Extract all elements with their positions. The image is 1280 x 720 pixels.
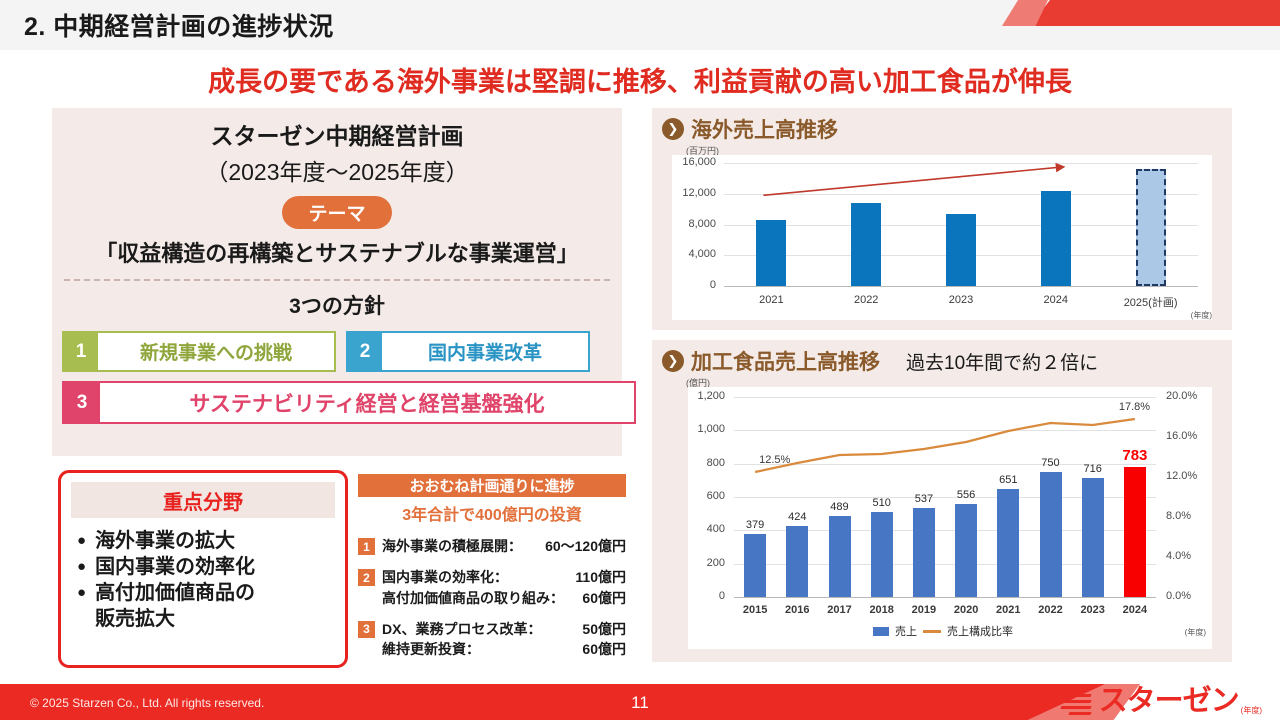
focus-item-label: 高付加価値商品の <box>95 581 255 605</box>
x-axis-tick: 2022 <box>1029 604 1071 616</box>
policy-number-1: 1 <box>64 333 98 370</box>
investment-line: 維持更新投資： 60億円 <box>382 639 626 659</box>
chevron-right-icon: ❯ <box>662 118 684 140</box>
investment-row-1: 1 海外事業の積極展開： 60〜120億円 <box>358 536 626 556</box>
y-axis-tick: 600 <box>688 490 725 502</box>
x-axis-tick: 2021 <box>724 294 819 306</box>
bar-value-label: 489 <box>818 501 860 513</box>
investment-value: 50億円 <box>582 619 626 639</box>
bar <box>946 214 976 286</box>
header-accent-bar <box>1030 0 1280 26</box>
policy-number-3: 3 <box>64 383 100 422</box>
bar-highlight <box>1124 467 1146 598</box>
gridline <box>734 597 1156 598</box>
line-point-label: 12.5% <box>759 454 790 466</box>
slide-footer: © 2025 Starzen Co., Ltd. All rights rese… <box>0 684 1280 720</box>
x-axis-tick: 2015 <box>734 604 776 616</box>
bullet-icon: ● <box>77 529 86 552</box>
logo-superscript: (年度) <box>1241 705 1262 716</box>
list-item: ● 海外事業の拡大 <box>77 529 345 553</box>
policy-item-3[interactable]: 3 サステナビリティ経営と経営基盤強化 <box>62 381 636 424</box>
investment-label: 維持更新投資： <box>382 639 480 659</box>
y-axis-tick: 12,000 <box>672 187 716 199</box>
processed-food-title: 加工食品売上高推移 <box>691 346 880 376</box>
list-item: ● 高付加価値商品の <box>77 581 345 605</box>
investment-row-3: 3 DX、業務プロセス改革： 50億円 維持更新投資： 60億円 <box>358 619 626 660</box>
investment-label: 海外事業の積極展開： <box>382 536 522 556</box>
page-title: 2. 中期経営計画の進捗状況 <box>24 7 334 43</box>
investment-line: 海外事業の積極展開： 60〜120億円 <box>382 536 626 556</box>
overseas-sales-title: 海外売上高推移 <box>691 114 838 144</box>
policy-heading: 3つの方針 <box>52 290 622 320</box>
investment-line: DX、業務プロセス改革： 50億円 <box>382 619 626 639</box>
policy-label-1: 新規事業への挑戦 <box>98 333 334 370</box>
gridline <box>724 286 1198 287</box>
bar-value-label: 424 <box>776 511 818 523</box>
x-axis-tick: 2024 <box>1008 294 1103 306</box>
focus-areas-heading: 重点分野 <box>71 482 335 518</box>
line-point-label: 17.8% <box>1119 401 1150 413</box>
x-axis-tick: 2018 <box>861 604 903 616</box>
x-axis-tick: 2024 <box>1114 604 1156 616</box>
bar <box>1040 472 1062 597</box>
y-axis-tick: 4,000 <box>672 248 716 260</box>
y2-axis-tick: 12.0% <box>1166 470 1197 482</box>
policy-label-3: サステナビリティ経営と経営基盤強化 <box>100 383 634 422</box>
bar <box>913 508 935 598</box>
y2-axis-tick: 0.0% <box>1166 590 1191 602</box>
investment-value: 110億円 <box>575 567 626 587</box>
overseas-sales-header: ❯ 海外売上高推移 <box>662 114 1232 144</box>
investment-body-3: DX、業務プロセス改革： 50億円 維持更新投資： 60億円 <box>382 619 626 660</box>
bar-value-label: 750 <box>1029 457 1071 469</box>
chevron-right-icon: ❯ <box>662 350 684 372</box>
y2-axis-tick: 4.0% <box>1166 550 1191 562</box>
gridline <box>734 430 1156 431</box>
gridline <box>724 194 1198 195</box>
legend-swatch-sales <box>873 627 889 636</box>
company-logo: スターゼン (年度) <box>1061 688 1262 716</box>
bullet-icon: ● <box>77 555 86 578</box>
legend-label-ratio: 売上構成比率 <box>947 623 1013 639</box>
year-axis-label: (年度) <box>1185 627 1206 638</box>
focus-areas-box: 重点分野 ● 海外事業の拡大 ● 国内事業の効率化 ● 高付加価値商品の ● 販… <box>58 470 348 668</box>
bar <box>997 489 1019 598</box>
legend-label-sales: 売上 <box>895 623 917 639</box>
bar <box>955 504 977 597</box>
processed-food-header: ❯ 加工食品売上高推移 過去10年間で約２倍に <box>662 346 1232 376</box>
x-axis-tick: 2022 <box>819 294 914 306</box>
bar-value-label: 537 <box>903 493 945 505</box>
y-axis-tick: 0 <box>688 590 725 602</box>
x-axis-tick: 2023 <box>914 294 1009 306</box>
list-item-continuation: ● 販売拡大 <box>77 607 345 631</box>
theme-badge: テーマ <box>282 196 392 229</box>
policy-item-2[interactable]: 2 国内事業改革 <box>346 331 590 372</box>
policy-label-2: 国内事業改革 <box>382 333 588 370</box>
slide-subtitle: 成長の要である海外事業は堅調に推移、利益貢献の高い加工食品が伸長 <box>0 60 1280 99</box>
y-axis-tick: 8,000 <box>672 218 716 230</box>
bar <box>756 220 786 286</box>
year-axis-label: (年度) <box>1191 310 1212 321</box>
investment-value: 60億円 <box>582 639 626 659</box>
x-axis-tick: 2016 <box>776 604 818 616</box>
investment-body-1: 海外事業の積極展開： 60〜120億円 <box>382 536 626 556</box>
investment-row-2: 2 国内事業の効率化： 110億円 高付加価値商品の取り組み： 60億円 <box>358 567 626 608</box>
investment-value: 60〜120億円 <box>545 536 626 556</box>
slide-header: 2. 中期経営計画の進捗状況 <box>0 0 1280 50</box>
investment-label: 国内事業の効率化： <box>382 567 508 587</box>
processed-food-plot: 02004006008001,0001,2000.0%4.0%8.0%12.0%… <box>688 387 1212 649</box>
plan-title: スターゼン中期経営計画 <box>52 117 622 151</box>
bar <box>829 516 851 598</box>
bar <box>1082 478 1104 597</box>
investment-number-3: 3 <box>358 621 375 638</box>
overseas-sales-plot: 04,0008,00012,00016,00020212022202320242… <box>672 155 1212 320</box>
y-axis-tick: 400 <box>688 523 725 535</box>
x-axis-tick: 2020 <box>945 604 987 616</box>
investment-number-1: 1 <box>358 538 375 555</box>
investment-line: 高付加価値商品の取り組み： 60億円 <box>382 588 626 608</box>
logo-mark-icon <box>1061 690 1095 716</box>
y-axis-tick: 200 <box>688 557 725 569</box>
investment-line: 国内事業の効率化： 110億円 <box>382 567 626 587</box>
bar-plan <box>1136 169 1166 286</box>
processed-food-sales-panel: ❯ 加工食品売上高推移 過去10年間で約２倍に (億円) 02004006008… <box>652 340 1232 662</box>
bar-value-label: 651 <box>987 474 1029 486</box>
investment-status-banner: おおむね計画通りに進捗 <box>358 474 626 497</box>
y2-axis-tick: 8.0% <box>1166 510 1191 522</box>
investment-total: 3年合計で400億円の投資 <box>358 501 626 525</box>
focus-item-label: 販売拡大 <box>95 607 175 631</box>
focus-item-label: 国内事業の効率化 <box>95 555 255 579</box>
slide: 2. 中期経営計画の進捗状況 成長の要である海外事業は堅調に推移、利益貢献の高い… <box>0 0 1280 720</box>
y-axis-tick: 16,000 <box>672 156 716 168</box>
y-axis-tick: 800 <box>688 457 725 469</box>
x-axis-tick: 2019 <box>903 604 945 616</box>
focus-areas-list: ● 海外事業の拡大 ● 国内事業の効率化 ● 高付加価値商品の ● 販売拡大 <box>77 529 345 631</box>
bar <box>871 512 893 597</box>
bar <box>786 526 808 597</box>
investment-number-2: 2 <box>358 569 375 586</box>
investment-body-2: 国内事業の効率化： 110億円 高付加価値商品の取り組み： 60億円 <box>382 567 626 608</box>
bar-value-label: 783 <box>1114 447 1156 464</box>
midterm-plan-panel: スターゼン中期経営計画 （2023年度〜2025年度） テーマ 「収益構造の再構… <box>52 108 622 456</box>
policy-row-top: 1 新規事業への挑戦 2 国内事業改革 <box>62 331 612 372</box>
chart-legend: 売上売上構成比率 <box>873 623 1013 639</box>
y-axis-tick: 0 <box>672 279 716 291</box>
investment-section: おおむね計画通りに進捗 3年合計で400億円の投資 1 海外事業の積極展開： 6… <box>358 474 626 659</box>
logo-text: スターゼン <box>1099 688 1239 716</box>
processed-food-note: 過去10年間で約２倍に <box>906 348 1098 375</box>
divider <box>64 279 610 281</box>
x-axis-tick: 2025(計画) <box>1103 294 1198 310</box>
gridline <box>724 163 1198 164</box>
gridline <box>734 397 1156 398</box>
bar-value-label: 716 <box>1072 463 1114 475</box>
plan-period: （2023年度〜2025年度） <box>52 153 622 187</box>
bullet-icon: ● <box>77 581 86 604</box>
y-axis-tick: 1,000 <box>688 423 725 435</box>
bar-value-label: 379 <box>734 519 776 531</box>
y-axis-tick: 1,200 <box>688 390 725 402</box>
x-axis-tick: 2023 <box>1072 604 1114 616</box>
bar <box>851 203 881 286</box>
investment-value: 60億円 <box>582 588 626 608</box>
investment-label: 高付加価値商品の取り組み： <box>382 588 564 608</box>
x-axis-tick: 2017 <box>818 604 860 616</box>
y2-axis-tick: 16.0% <box>1166 430 1197 442</box>
bar-value-label: 510 <box>861 497 903 509</box>
y2-axis-tick: 20.0% <box>1166 390 1197 402</box>
x-axis-tick: 2021 <box>987 604 1029 616</box>
theme-statement: 「収益構造の再構築とサステナブルな事業運営」 <box>52 236 622 268</box>
investment-label: DX、業務プロセス改革： <box>382 619 541 639</box>
bar-value-label: 556 <box>945 489 987 501</box>
policy-number-2: 2 <box>348 333 382 370</box>
legend-swatch-ratio <box>923 630 941 633</box>
focus-item-label: 海外事業の拡大 <box>95 529 235 553</box>
bar <box>1041 191 1071 286</box>
overseas-sales-panel: ❯ 海外売上高推移 (百万円) 04,0008,00012,00016,0002… <box>652 108 1232 330</box>
policy-item-1[interactable]: 1 新規事業への挑戦 <box>62 331 336 372</box>
bar <box>744 534 766 597</box>
list-item: ● 国内事業の効率化 <box>77 555 345 579</box>
